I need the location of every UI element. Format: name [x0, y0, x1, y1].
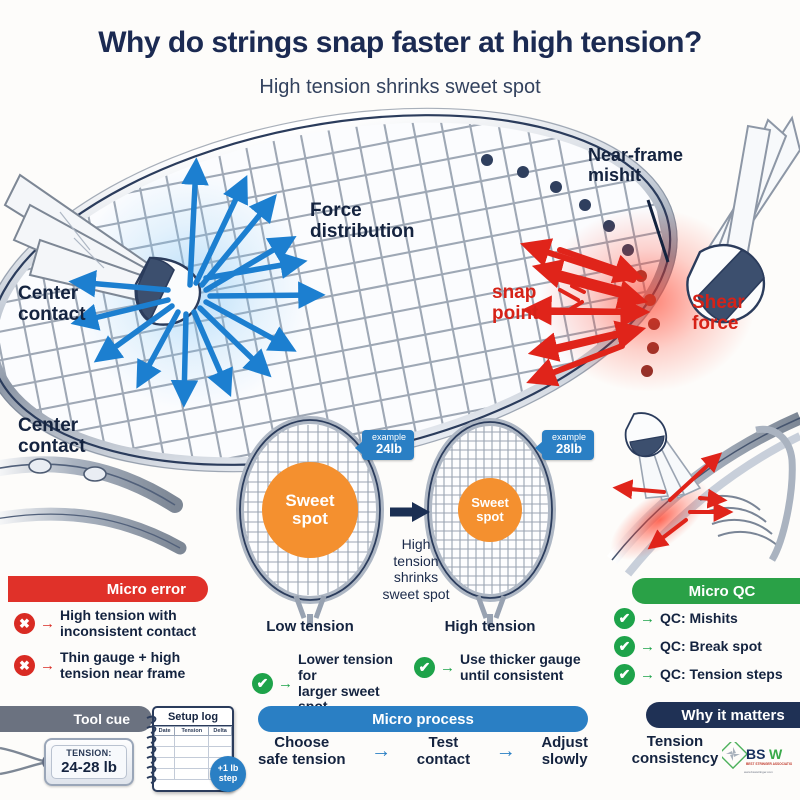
x-icon: ✖	[14, 613, 35, 634]
arrow-right-icon: →	[40, 658, 55, 673]
infographic-canvas: Forcedistribution Centercontact Centerco…	[0, 0, 800, 800]
why-it-matters-line2: consistency	[632, 750, 719, 767]
process-step-3-line2: slowly	[542, 751, 588, 768]
process-arrow-icon: →	[371, 741, 391, 761]
micro-qc-heading: Micro QC	[632, 578, 800, 604]
column-header-delta: Delta	[209, 727, 232, 736]
check-icon: ✔	[614, 608, 635, 629]
badge-high-tension: example 28lb	[542, 430, 594, 460]
tension-tag: TENSION: 24-28 lb	[44, 738, 134, 786]
table-row	[155, 736, 232, 747]
step-badge: +1 lb step	[210, 756, 246, 792]
tension-tag-value: 24-28 lb	[61, 760, 117, 775]
process-step-2: Test contact	[417, 734, 470, 769]
setup-log-title: Setup log	[154, 708, 232, 726]
shuttle-inset	[626, 413, 700, 500]
arrow-right-icon: →	[640, 639, 655, 654]
process-step-1-line2: safe tension	[258, 751, 346, 768]
frame-scrape-inset	[598, 413, 800, 575]
micro-error-item-text: Thin gauge + hightension near frame	[60, 650, 185, 682]
setup-log-notepad: Setup log Date Tension Delta +1 lb step	[152, 706, 234, 792]
sweet-spot-low: Sweetspot	[262, 462, 358, 558]
micro-qc-item: ✔ → QC: Break spot	[614, 636, 762, 657]
process-arrow-icon: →	[496, 741, 516, 761]
page-title: Why do strings snap faster at high tensi…	[0, 26, 800, 60]
process-step-2-line2: contact	[417, 751, 470, 768]
check-icon: ✔	[252, 673, 273, 694]
micro-qc-item-text: QC: Break spot	[660, 639, 762, 655]
why-it-matters-heading: Why it matters	[646, 702, 800, 728]
micro-error-heading: Micro error	[8, 576, 208, 602]
tool-cue-heading: Tool cue	[0, 706, 152, 732]
check-icon: ✔	[614, 636, 635, 657]
page-subtitle: High tension shrinks sweet spot	[0, 76, 800, 99]
badge-low-tension: example 24lb	[362, 430, 414, 460]
micro-error-item: ✖ → High tension withinconsistent contac…	[14, 608, 230, 640]
process-step-1-line1: Choose	[274, 734, 329, 751]
svg-text:www.bswstringer.com: www.bswstringer.com	[744, 770, 773, 774]
svg-text:BEST STRINGER ASSOCIATION: BEST STRINGER ASSOCIATION	[746, 762, 792, 766]
arrow-right-icon: →	[640, 667, 655, 682]
micro-qc-item-text: QC: Tension steps	[660, 667, 783, 683]
svg-text:W: W	[769, 746, 783, 762]
process-step-3: Adjust slowly	[541, 734, 588, 769]
why-it-matters-text: Tension consistency	[620, 733, 730, 768]
micro-process-heading: Micro process	[258, 706, 588, 732]
spiral-binding-icon	[145, 712, 159, 786]
process-step-1: Choose safe tension	[258, 734, 346, 769]
sweet-spot-high: Sweetspot	[458, 478, 522, 542]
bsw-logo: BS W BEST STRINGER ASSOCIATION www.bswst…	[722, 742, 792, 776]
arrow-right-icon: →	[40, 616, 55, 631]
process-step-3-line1: Adjust	[541, 734, 588, 751]
column-header-tension: Tension	[175, 727, 209, 736]
micro-qc-item-text: QC: Mishits	[660, 611, 738, 627]
label-shear-force: Shearforce	[692, 292, 745, 335]
label-center-contact-1: Centercontact	[18, 283, 86, 326]
arrow-right-icon: →	[440, 660, 455, 675]
label-center-contact-2: Centercontact	[18, 415, 86, 458]
tip-text: Use thicker gaugeuntil consistent	[460, 652, 581, 684]
tension-tag-label: TENSION:	[66, 749, 111, 758]
check-icon: ✔	[614, 664, 635, 685]
arrow-right-icon: →	[640, 611, 655, 626]
note-shrink: Hightensionshrinkssweet spot	[380, 536, 452, 602]
micro-error-item: ✖ → Thin gauge + hightension near frame	[14, 650, 230, 682]
arrow-right-icon: →	[278, 676, 293, 691]
label-near-frame-mishit: Near-framemishit	[588, 145, 683, 185]
tip-item: ✔ → Use thicker gaugeuntil consistent	[414, 652, 584, 684]
svg-text:BS: BS	[746, 746, 765, 762]
badge-value: 28lb	[552, 442, 586, 456]
transition-arrow	[390, 502, 430, 522]
label-snap-point: snappoint	[492, 282, 538, 325]
process-step-2-line1: Test	[429, 734, 459, 751]
x-icon: ✖	[14, 655, 35, 676]
table-row	[155, 747, 232, 758]
micro-qc-item: ✔ → QC: Mishits	[614, 608, 738, 629]
label-force-distribution: Forcedistribution	[310, 200, 414, 243]
caption-low-tension: Low tension	[248, 618, 372, 635]
micro-error-item-text: High tension withinconsistent contact	[60, 608, 196, 640]
micro-process-flow: Choose safe tension → Test contact → Adj…	[258, 734, 588, 769]
badge-value: 24lb	[372, 442, 406, 456]
check-icon: ✔	[414, 657, 435, 678]
step-badge-line2: step	[219, 774, 238, 784]
micro-qc-item: ✔ → QC: Tension steps	[614, 664, 783, 685]
caption-high-tension: High tension	[428, 618, 552, 635]
why-it-matters-line1: Tension	[647, 733, 703, 750]
